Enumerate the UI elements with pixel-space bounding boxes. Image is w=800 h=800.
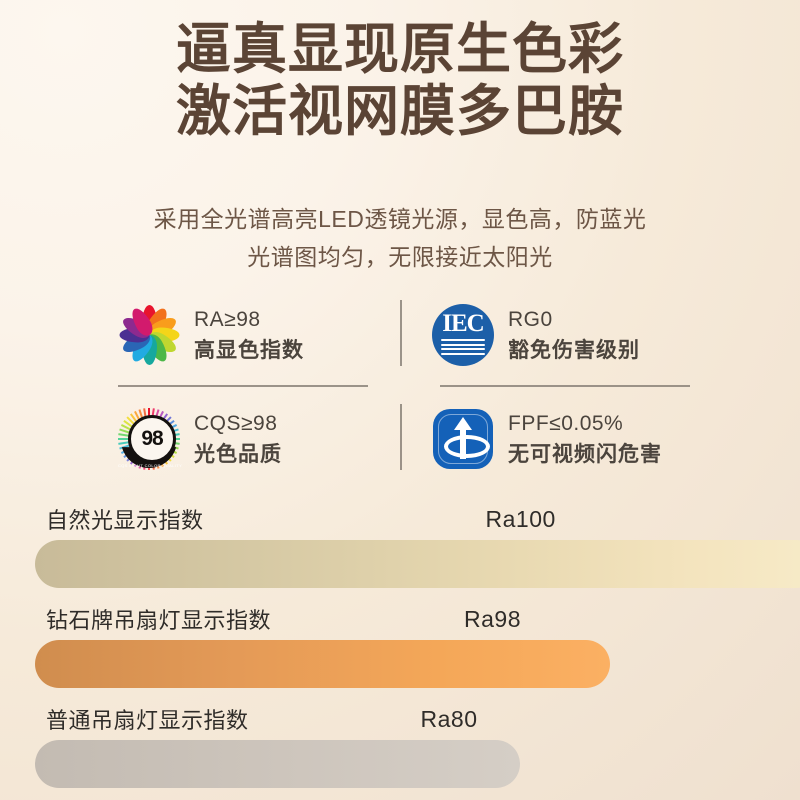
headline-line-2: 激活视网膜多巴胺: [0, 80, 800, 142]
badge-ra: RA≥98 高显色指数: [118, 292, 388, 378]
divider-horizontal-right: [440, 385, 690, 387]
badge-rg0-line-2: 豁免伤害级别: [508, 335, 640, 366]
bar-row-ordinary: 普通吊扇灯显示指数 Ra80: [0, 698, 800, 798]
bar-fill-diamond: [35, 640, 610, 688]
badge-fpf: FPF≤0.05% 无可视频闪危害: [432, 396, 702, 482]
bar-row-natural: 自然光显示指数 Ra100: [0, 498, 800, 598]
bar-name-diamond: 钻石牌吊扇灯显示指数: [46, 603, 271, 635]
cqs-seal-arc-text: CQS LIGHT COLOR QUALITY: [118, 463, 174, 468]
badge-cqs: CQS LIGHT COLOR QUALITY 98 CQS≥98 光色品质: [118, 396, 388, 482]
bar-value-natural: Ra100: [486, 506, 556, 533]
page-title: 逼真显现原生色彩 激活视网膜多巴胺: [0, 18, 800, 142]
iec-logo-text: IEC: [442, 311, 483, 336]
bar-track-ordinary: [0, 740, 800, 788]
badge-fpf-line-2: 无可视频闪危害: [508, 439, 662, 470]
divider-horizontal-left: [118, 385, 368, 387]
bar-labels-ordinary: 普通吊扇灯显示指数 Ra80: [46, 702, 478, 736]
subheading: 采用全光谱高亮LED透镜光源，显色高，防蓝光 光谱图均匀，无限接近太阳光: [0, 200, 800, 276]
badge-cqs-line-1: CQS≥98: [194, 408, 282, 439]
bar-row-diamond: 钻石牌吊扇灯显示指数 Ra98: [0, 598, 800, 698]
badge-cqs-text: CQS≥98 光色品质: [194, 408, 282, 470]
flicker-free-icon-arrow-head: [454, 417, 472, 430]
badge-ra-text: RA≥98 高显色指数: [194, 304, 304, 366]
divider-vertical-bottom: [400, 404, 402, 470]
bar-fill-natural: [35, 540, 800, 588]
bar-value-diamond: Ra98: [464, 606, 521, 633]
badge-rg0-line-1: RG0: [508, 304, 640, 335]
promo-page: 逼真显现原生色彩 激活视网膜多巴胺 采用全光谱高亮LED透镜光源，显色高，防蓝光…: [0, 0, 800, 800]
badge-ra-line-2: 高显色指数: [194, 335, 304, 366]
badge-fpf-line-1: FPF≤0.05%: [508, 408, 662, 439]
bar-labels-natural: 自然光显示指数 Ra100: [46, 502, 556, 536]
badge-fpf-text: FPF≤0.05% 无可视频闪危害: [508, 408, 662, 470]
badge-cqs-line-2: 光色品质: [194, 439, 282, 470]
flicker-free-icon: [432, 408, 494, 470]
badge-ra-line-1: RA≥98: [194, 304, 304, 335]
cqs-98-seal-icon: CQS LIGHT COLOR QUALITY 98: [118, 408, 180, 470]
cqs-seal-value: 98: [128, 415, 176, 463]
color-wheel-icon: [118, 304, 180, 366]
bar-fill-ordinary: [35, 740, 520, 788]
badge-rg0: IEC RG0 豁免伤害级别: [432, 292, 702, 378]
badge-rg0-text: RG0 豁免伤害级别: [508, 304, 640, 366]
iec-logo-icon: IEC: [432, 304, 494, 366]
bar-labels-diamond: 钻石牌吊扇灯显示指数 Ra98: [46, 602, 521, 636]
feature-badge-grid: RA≥98 高显色指数 IEC RG0 豁免伤害级别: [112, 292, 696, 488]
bar-track-diamond: [0, 640, 800, 688]
flicker-free-icon-ring: [444, 435, 490, 458]
flicker-free-icon-arrow-shaft: [460, 425, 466, 459]
headline-line-1: 逼真显现原生色彩: [0, 18, 800, 80]
divider-vertical-top: [400, 300, 402, 366]
subheading-line-2: 光谱图均匀，无限接近太阳光: [0, 238, 800, 276]
bar-value-ordinary: Ra80: [421, 706, 478, 733]
bar-track-natural: [0, 540, 800, 588]
bar-name-natural: 自然光显示指数: [46, 503, 204, 535]
bar-name-ordinary: 普通吊扇灯显示指数: [46, 703, 249, 735]
subheading-line-1: 采用全光谱高亮LED透镜光源，显色高，防蓝光: [0, 200, 800, 238]
iec-logo-lines: [441, 339, 485, 357]
cri-comparison-chart: 自然光显示指数 Ra100 钻石牌吊扇灯显示指数 Ra98 普通吊扇灯显示指数 …: [0, 498, 800, 798]
